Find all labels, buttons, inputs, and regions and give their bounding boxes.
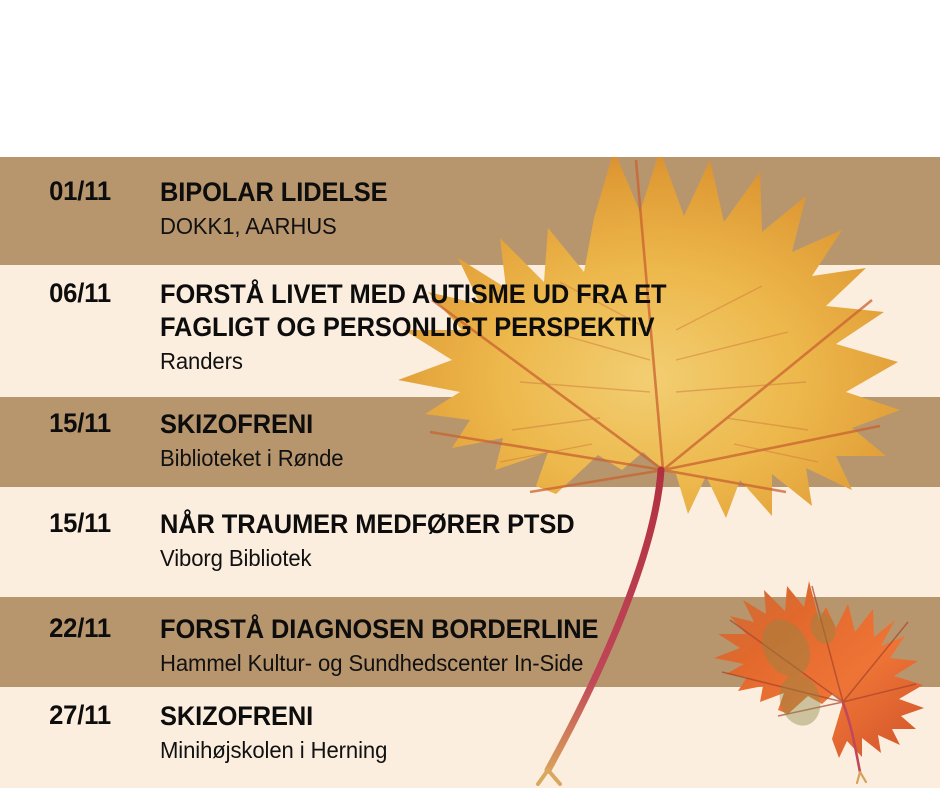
event-details: SKIZOFRENI Minihøjskolen i Herning [160, 700, 940, 765]
event-date: 06/11 [4, 278, 156, 309]
event-title: SKIZOFRENI [160, 408, 909, 441]
poster-canvas: Temaaftener i november 01/11 BIPOLAR LID… [0, 0, 940, 788]
event-details: FORSTÅ DIAGNOSEN BORDERLINE Hammel Kultu… [160, 613, 940, 678]
event-title: SKIZOFRENI [160, 700, 909, 733]
event-venue: Randers [160, 346, 909, 376]
event-date: 27/11 [4, 700, 156, 731]
event-date: 22/11 [4, 613, 156, 644]
event-row: 06/11 FORSTÅ LIVET MED AUTISME UD FRA ET… [0, 278, 940, 376]
event-row: 15/11 SKIZOFRENI Biblioteket i Rønde [0, 408, 940, 473]
event-date: 15/11 [4, 408, 156, 439]
event-date: 01/11 [4, 176, 156, 207]
event-details: FORSTÅ LIVET MED AUTISME UD FRA ET FAGLI… [160, 278, 940, 376]
event-venue: Hammel Kultur- og Sundhedscenter In-Side [160, 648, 909, 678]
event-venue: Minihøjskolen i Herning [160, 735, 909, 765]
event-title: FORSTÅ DIAGNOSEN BORDERLINE [160, 613, 909, 646]
event-row: 01/11 BIPOLAR LIDELSE DOKK1, AARHUS [0, 176, 940, 241]
event-details: NÅR TRAUMER MEDFØRER PTSD Viborg Bibliot… [160, 508, 940, 573]
event-row: 27/11 SKIZOFRENI Minihøjskolen i Herning [0, 700, 940, 765]
header-band [0, 0, 940, 157]
event-details: SKIZOFRENI Biblioteket i Rønde [160, 408, 940, 473]
event-title: FORSTÅ LIVET MED AUTISME UD FRA ET FAGLI… [160, 278, 909, 344]
event-title: NÅR TRAUMER MEDFØRER PTSD [160, 508, 909, 541]
event-venue: DOKK1, AARHUS [160, 211, 909, 241]
event-date: 15/11 [4, 508, 156, 539]
event-venue: Viborg Bibliotek [160, 543, 909, 573]
event-row: 22/11 FORSTÅ DIAGNOSEN BORDERLINE Hammel… [0, 613, 940, 678]
event-details: BIPOLAR LIDELSE DOKK1, AARHUS [160, 176, 940, 241]
event-row: 15/11 NÅR TRAUMER MEDFØRER PTSD Viborg B… [0, 508, 940, 573]
event-title: BIPOLAR LIDELSE [160, 176, 909, 209]
event-venue: Biblioteket i Rønde [160, 443, 909, 473]
